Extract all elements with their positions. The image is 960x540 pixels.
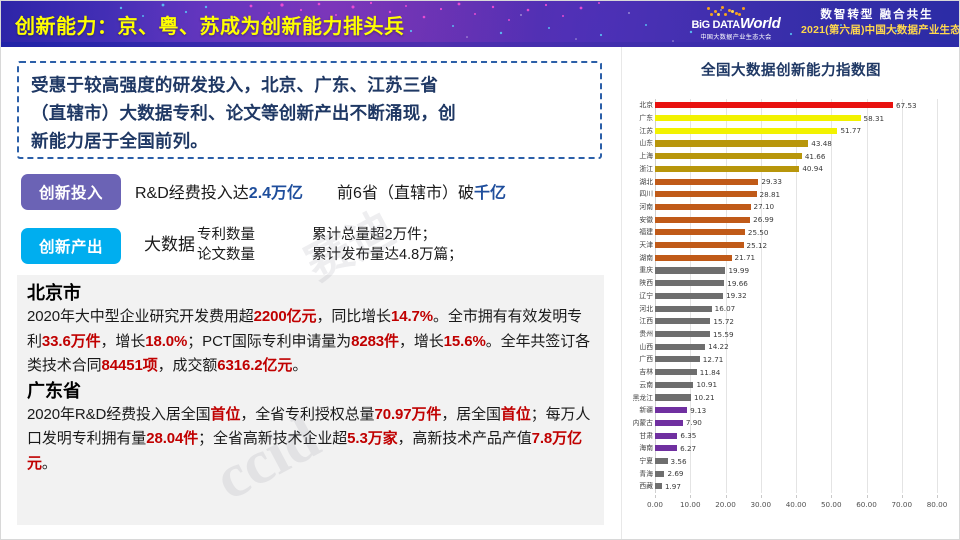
region-1-segment-5: 首位 <box>501 406 531 423</box>
region-0-segment-10: ，增长 <box>399 333 444 350</box>
chart-value-label: 2.69 <box>667 469 683 478</box>
chart-row: 新疆9.13 <box>621 404 960 417</box>
region-0-segment-2: ，同比增长 <box>316 308 391 325</box>
chart-bar[interactable] <box>655 369 697 375</box>
chart-x-axis: 0.0010.0020.0030.0040.0050.0060.0070.008… <box>629 495 953 515</box>
chart-bar-track: 26.99 <box>655 213 960 226</box>
chart-bar[interactable] <box>655 407 687 413</box>
chart-bar[interactable] <box>655 293 723 299</box>
chart-bar-track: 29.33 <box>655 175 960 188</box>
chart-value-label: 19.32 <box>726 291 747 300</box>
chart-value-label: 29.33 <box>761 177 782 186</box>
chart-bar-track: 27.10 <box>655 201 960 214</box>
region-name-guangdong: 广东省 <box>27 379 596 403</box>
chart-bar-track: 10.91 <box>655 378 960 391</box>
x-axis-tick <box>867 495 868 498</box>
logo-world-text: World <box>740 15 781 32</box>
slide-root: 创新能力：京、粤、苏成为创新能力排头兵 BiG DATAWorld 中国大数据产… <box>0 0 960 540</box>
chart-value-label: 10.91 <box>696 380 717 389</box>
page-title: 创新能力：京、粤、苏成为创新能力排头兵 <box>15 10 405 39</box>
output-kind-patents: 专利数量 <box>197 225 255 245</box>
chart-bar-track: 19.99 <box>655 264 960 277</box>
output-kind-papers: 论文数量 <box>197 245 255 265</box>
chart-value-label: 11.84 <box>700 368 721 377</box>
chart-row: 江西15.72 <box>621 315 960 328</box>
chart-bar[interactable] <box>655 128 837 134</box>
chart-category-label: 海南 <box>621 444 655 452</box>
chart-bar-track: 25.50 <box>655 226 960 239</box>
x-axis-tick-label: 0.00 <box>647 500 663 509</box>
chart-value-label: 9.13 <box>690 406 706 415</box>
chart-category-label: 新疆 <box>621 406 655 414</box>
chart-row: 广西12.71 <box>621 353 960 366</box>
chart-row: 上海41.66 <box>621 150 960 163</box>
chart-panel: 全国大数据创新能力指数图 北京67.53广东58.31江苏51.77山东43.4… <box>621 47 960 540</box>
chart-bar-track: 6.27 <box>655 442 960 455</box>
x-axis-tick <box>761 495 762 498</box>
rd-spend-text: R&D经费投入达 <box>135 185 249 202</box>
callout-line-3: 新能力居于全国前列。 <box>31 131 208 151</box>
chart-bar-track: 67.53 <box>655 99 960 112</box>
chart-category-label: 天津 <box>621 241 655 249</box>
x-axis-tick <box>690 495 691 498</box>
chart-bar-track: 2.69 <box>655 467 960 480</box>
chart-value-label: 6.35 <box>680 431 696 440</box>
x-axis-tick <box>937 495 938 498</box>
x-axis-tick-label: 60.00 <box>856 500 877 509</box>
chart-row: 浙江40.94 <box>621 163 960 176</box>
chart-bar-track: 11.84 <box>655 366 960 379</box>
chart-category-label: 宁夏 <box>621 457 655 465</box>
chart-bar[interactable] <box>655 433 677 439</box>
badge-innovation-input: 创新投入 <box>21 174 121 210</box>
output-value-papers: 累计发布量达4.8万篇； <box>312 245 463 265</box>
chart-category-label: 河南 <box>621 203 655 211</box>
chart-bar-rows: 北京67.53广东58.31江苏51.77山东43.48上海41.66浙江40.… <box>621 99 960 493</box>
chart-bar[interactable] <box>655 382 693 388</box>
output-kind-list: 专利数量 论文数量 <box>197 225 255 265</box>
chart-row: 吉林11.84 <box>621 366 960 379</box>
chart-value-label: 6.27 <box>680 444 696 453</box>
region-1-segment-8: ；全省高新技术企业超 <box>198 430 347 447</box>
x-axis-tick-label: 40.00 <box>786 500 807 509</box>
chart-bar-track: 15.59 <box>655 328 960 341</box>
chart-row: 河北16.07 <box>621 302 960 315</box>
chart-value-label: 1.97 <box>665 482 681 491</box>
region-1-segment-0: 2020年R&D经费投入居全国 <box>27 406 211 423</box>
chart-category-label: 北京 <box>621 101 655 109</box>
region-name-beijing: 北京市 <box>27 281 596 305</box>
chart-bar[interactable] <box>655 179 758 185</box>
chart-category-label: 上海 <box>621 152 655 160</box>
chart-category-label: 山西 <box>621 343 655 351</box>
x-axis-tick <box>796 495 797 498</box>
x-axis-tick-label: 50.00 <box>821 500 842 509</box>
chart-value-label: 12.71 <box>703 355 724 364</box>
chart-bar-track: 19.66 <box>655 277 960 290</box>
x-axis-tick <box>726 495 727 498</box>
region-body-beijing: 2020年大中型企业研究开发费用超2200亿元，同比增长14.7%。全市拥有有效… <box>27 305 596 379</box>
top6-text: 前6省（直辖市）破 <box>337 185 474 202</box>
chart-bar-track: 3.56 <box>655 455 960 468</box>
chart-row: 辽宁19.32 <box>621 290 960 303</box>
chart-row: 湖南21.71 <box>621 251 960 264</box>
chart-category-label: 辽宁 <box>621 292 655 300</box>
chart-category-label: 山东 <box>621 139 655 147</box>
chart-bar-track: 58.31 <box>655 112 960 125</box>
region-0-segment-3: 14.7% <box>391 308 433 325</box>
region-0-segment-9: 8283件 <box>351 333 399 350</box>
chart-row: 福建25.50 <box>621 226 960 239</box>
chart-category-label: 重庆 <box>621 266 655 274</box>
chart-bar[interactable] <box>655 394 691 400</box>
callout-line-2: （直辖市）大数据专利、论文等创新产出不断涌现，创 <box>31 103 456 123</box>
chart-value-label: 19.66 <box>727 279 748 288</box>
region-0-segment-7: 18.0% <box>145 333 187 350</box>
chart-category-label: 广东 <box>621 114 655 122</box>
chart-value-label: 21.71 <box>735 253 756 262</box>
region-0-segment-14: ，成交额 <box>158 357 218 374</box>
chart-row: 云南10.91 <box>621 378 960 391</box>
chart-row: 天津25.12 <box>621 239 960 252</box>
region-0-segment-1: 2200亿元 <box>254 308 317 325</box>
conference-branding: 数智转型 融合共生 2021(第六届)中国大数据产业生态大会 <box>801 7 953 38</box>
chart-row: 西藏1.97 <box>621 480 960 493</box>
chart-title: 全国大数据创新能力指数图 <box>621 59 960 80</box>
chart-bar[interactable] <box>655 229 745 235</box>
chart-value-label: 16.07 <box>715 304 736 313</box>
slide-header: 创新能力：京、粤、苏成为创新能力排头兵 BiG DATAWorld 中国大数据产… <box>1 1 960 47</box>
chart-bar[interactable] <box>655 217 750 223</box>
chart-row: 海南6.27 <box>621 442 960 455</box>
region-detail-panel: 北京市 2020年大中型企业研究开发费用超2200亿元，同比增长14.7%。全市… <box>17 275 604 525</box>
chart-row: 河南27.10 <box>621 201 960 214</box>
chart-bar[interactable] <box>655 191 757 197</box>
chart-bar[interactable] <box>655 115 861 121</box>
chart-bar-track: 51.77 <box>655 124 960 137</box>
chart-category-label: 浙江 <box>621 165 655 173</box>
chart-row: 江苏51.77 <box>621 124 960 137</box>
region-0-segment-16: 。 <box>292 357 307 374</box>
chart-bar-track: 43.48 <box>655 137 960 150</box>
chart-value-label: 67.53 <box>896 101 917 110</box>
chart-category-label: 贵州 <box>621 330 655 338</box>
chart-row: 青海2.69 <box>621 467 960 480</box>
chart-bar-track: 10.21 <box>655 391 960 404</box>
chart-bar[interactable] <box>655 153 802 159</box>
chart-bar-track: 9.13 <box>655 404 960 417</box>
chart-bar[interactable] <box>655 280 724 286</box>
chart-value-label: 3.56 <box>671 457 687 466</box>
chart-bar[interactable] <box>655 318 710 324</box>
chart-value-label: 7.90 <box>686 418 702 427</box>
chart-category-label: 安徽 <box>621 216 655 224</box>
chart-row: 内蒙古7.90 <box>621 417 960 430</box>
chart-category-label: 西藏 <box>621 482 655 490</box>
chart-category-label: 云南 <box>621 381 655 389</box>
region-1-segment-7: 28.04件 <box>146 430 198 447</box>
chart-value-label: 40.94 <box>802 164 823 173</box>
x-axis-tick <box>902 495 903 498</box>
chart-value-label: 25.12 <box>747 241 768 250</box>
x-axis-tick-label: 70.00 <box>891 500 912 509</box>
logo-dots-icon <box>677 6 795 17</box>
callout-line-1: 受惠于较高强度的研发投入，北京、广东、江苏三省 <box>31 75 438 95</box>
region-1-segment-2: ，全省专利授权总量 <box>240 406 374 423</box>
chart-bar-track: 16.07 <box>655 302 960 315</box>
x-axis-tick-label: 80.00 <box>927 500 948 509</box>
chart-row: 北京67.53 <box>621 99 960 112</box>
chart-bar-track: 19.32 <box>655 290 960 303</box>
chart-bar[interactable] <box>655 344 705 350</box>
region-0-segment-8: ；PCT国际专利申请量为 <box>187 333 351 350</box>
chart-bar-track: 41.66 <box>655 150 960 163</box>
chart-row: 湖北29.33 <box>621 175 960 188</box>
innovation-output-row: 大数据 专利数量 论文数量 累计总量超2万件； 累计发布量达4.8万篇； <box>144 225 463 265</box>
chart-bar[interactable] <box>655 204 751 210</box>
region-0-segment-0: 2020年大中型企业研究开发费用超 <box>27 308 254 325</box>
bigdata-subject-label: 大数据 <box>144 235 195 255</box>
region-1-segment-4: ，居全国 <box>441 406 501 423</box>
chart-category-label: 吉林 <box>621 368 655 376</box>
chart-category-label: 陕西 <box>621 279 655 287</box>
chart-bar-track: 12.71 <box>655 353 960 366</box>
chart-bar-track: 40.94 <box>655 163 960 176</box>
chart-category-label: 黑龙江 <box>621 394 655 402</box>
chart-bar-track: 21.71 <box>655 251 960 264</box>
callout-paragraph: 受惠于较高强度的研发投入，北京、广东、江苏三省 （直辖市）大数据专利、论文等创新… <box>31 71 590 155</box>
chart-plot-area: 北京67.53广东58.31江苏51.77山东43.48上海41.66浙江40.… <box>621 99 960 503</box>
chart-category-label: 湖南 <box>621 254 655 262</box>
chart-bar-track: 28.81 <box>655 188 960 201</box>
chart-value-label: 26.99 <box>753 215 774 224</box>
chart-bar[interactable] <box>655 420 683 426</box>
region-0-segment-11: 15.6% <box>444 333 486 350</box>
chart-bar[interactable] <box>655 445 677 451</box>
logo-wordmark: BiG DATAWorld <box>677 17 795 32</box>
output-value-list: 累计总量超2万件； 累计发布量达4.8万篇； <box>312 225 463 265</box>
chart-category-label: 河北 <box>621 305 655 313</box>
region-body-guangdong: 2020年R&D经费投入居全国首位，全省专利授权总量70.97万件，居全国首位；… <box>27 403 596 477</box>
chart-row: 黑龙江10.21 <box>621 391 960 404</box>
chart-category-label: 甘肃 <box>621 432 655 440</box>
chart-bar[interactable] <box>655 255 732 261</box>
chart-bar[interactable] <box>655 306 712 312</box>
chart-bar-track: 7.90 <box>655 417 960 430</box>
chart-bar-track: 1.97 <box>655 480 960 493</box>
chart-bar-track: 25.12 <box>655 239 960 252</box>
region-1-segment-12: 。 <box>42 455 57 472</box>
chart-category-label: 湖北 <box>621 178 655 186</box>
badge-innovation-output: 创新产出 <box>21 228 121 264</box>
chart-bar-track: 6.35 <box>655 429 960 442</box>
chart-row: 四川28.81 <box>621 188 960 201</box>
rd-spend-value: 2.4万亿 <box>249 185 303 202</box>
chart-bar[interactable] <box>655 140 808 146</box>
left-content-panel: 受惠于较高强度的研发投入，北京、广东、江苏三省 （直辖市）大数据专利、论文等创新… <box>1 47 621 540</box>
chart-value-label: 10.21 <box>694 393 715 402</box>
chart-bar[interactable] <box>655 471 664 477</box>
region-1-segment-1: 首位 <box>211 406 241 423</box>
chart-bar-track: 15.72 <box>655 315 960 328</box>
region-0-segment-5: 33.6万件 <box>42 333 101 350</box>
region-1-segment-3: 70.97万件 <box>374 406 441 423</box>
chart-value-label: 51.77 <box>840 126 861 135</box>
region-0-segment-13: 84451项 <box>102 357 158 374</box>
chart-category-label: 江西 <box>621 317 655 325</box>
innovation-input-row: R&D经费投入达2.4万亿前6省（直辖市）破千亿 <box>135 179 506 203</box>
chart-category-label: 青海 <box>621 470 655 478</box>
chart-value-label: 43.48 <box>811 139 832 148</box>
chart-bar[interactable] <box>655 166 799 172</box>
chart-category-label: 四川 <box>621 190 655 198</box>
bigdata-world-logo: BiG DATAWorld 中国大数据产业生态大会 <box>677 6 795 44</box>
chart-value-label: 41.66 <box>805 152 826 161</box>
chart-bar[interactable] <box>655 356 700 362</box>
chart-row: 山西14.22 <box>621 340 960 353</box>
conference-slogan: 数智转型 融合共生 <box>801 7 953 23</box>
chart-category-label: 福建 <box>621 228 655 236</box>
chart-value-label: 25.50 <box>748 228 769 237</box>
chart-value-label: 15.72 <box>713 317 734 326</box>
chart-category-label: 内蒙古 <box>621 419 655 427</box>
chart-value-label: 27.10 <box>754 202 775 211</box>
chart-category-label: 江苏 <box>621 127 655 135</box>
x-axis-tick-label: 20.00 <box>715 500 736 509</box>
chart-value-label: 58.31 <box>864 114 885 123</box>
chart-row: 陕西19.66 <box>621 277 960 290</box>
logo-subtitle: 中国大数据产业生态大会 <box>677 33 795 42</box>
region-1-segment-10: ，高新技术产品产值 <box>398 430 532 447</box>
chart-row: 甘肃6.35 <box>621 429 960 442</box>
region-1-segment-9: 5.3万家 <box>347 430 397 447</box>
chart-bar[interactable] <box>655 458 668 464</box>
x-axis-tick <box>655 495 656 498</box>
top6-value: 千亿 <box>474 185 506 202</box>
chart-row: 重庆19.99 <box>621 264 960 277</box>
chart-category-label: 广西 <box>621 355 655 363</box>
x-axis-tick <box>831 495 832 498</box>
callout-box: 受惠于较高强度的研发投入，北京、广东、江苏三省 （直辖市）大数据专利、论文等创新… <box>17 61 602 159</box>
chart-row: 广东58.31 <box>621 112 960 125</box>
conference-name: 2021(第六届)中国大数据产业生态大会 <box>801 23 953 38</box>
chart-row: 宁夏3.56 <box>621 455 960 468</box>
chart-value-label: 19.99 <box>728 266 749 275</box>
chart-bar[interactable] <box>655 242 744 248</box>
chart-value-label: 15.59 <box>713 330 734 339</box>
x-axis-tick-label: 30.00 <box>750 500 771 509</box>
chart-bar[interactable] <box>655 331 710 337</box>
chart-bar-track: 14.22 <box>655 340 960 353</box>
logo-bigdata-text: BiG DATA <box>691 19 739 31</box>
chart-row: 山东43.48 <box>621 137 960 150</box>
chart-value-label: 28.81 <box>760 190 781 199</box>
x-axis-tick-label: 10.00 <box>680 500 701 509</box>
output-value-patents: 累计总量超2万件； <box>312 225 463 245</box>
chart-value-label: 14.22 <box>708 342 729 351</box>
chart-bar[interactable] <box>655 102 893 108</box>
chart-row: 安徽26.99 <box>621 213 960 226</box>
chart-bar[interactable] <box>655 483 662 489</box>
region-0-segment-6: ，增长 <box>101 333 146 350</box>
chart-bar[interactable] <box>655 267 725 273</box>
region-0-segment-15: 6316.2亿元 <box>217 357 292 374</box>
chart-row: 贵州15.59 <box>621 328 960 341</box>
